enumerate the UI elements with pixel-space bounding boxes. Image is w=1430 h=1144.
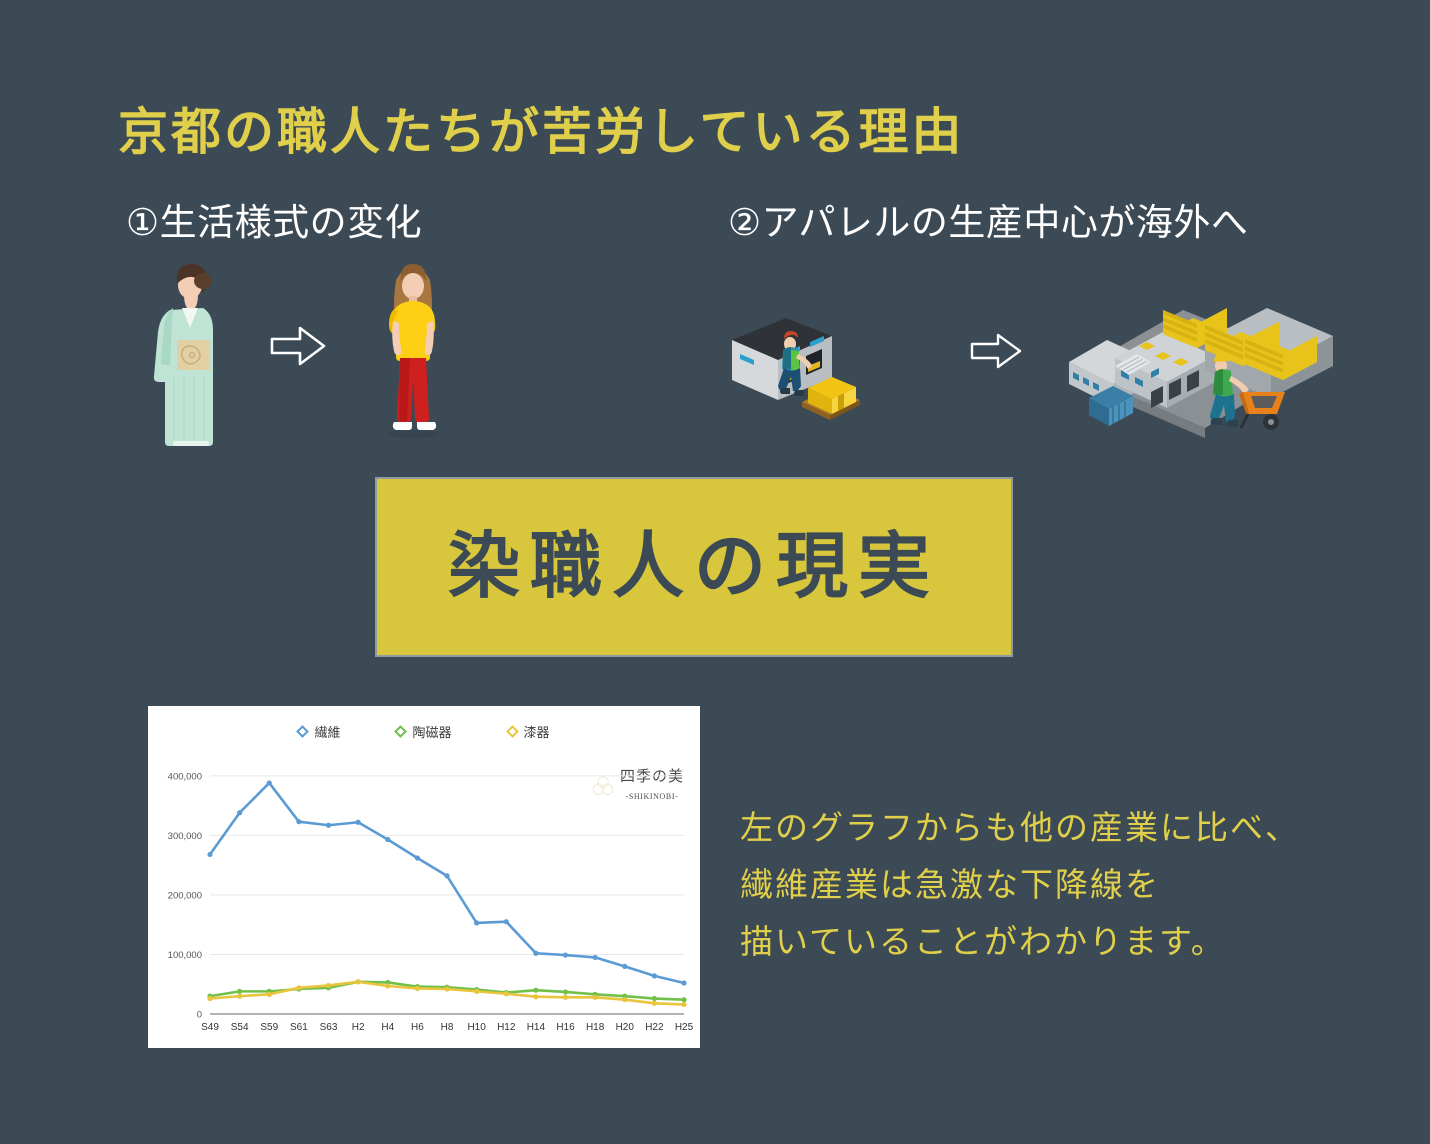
svg-text:0: 0 bbox=[197, 1010, 202, 1021]
legend-label-ceramics: 陶磁器 bbox=[412, 722, 451, 741]
legend-label-lacquerware: 漆器 bbox=[524, 722, 550, 741]
svg-text:H10: H10 bbox=[467, 1022, 486, 1033]
svg-text:H4: H4 bbox=[381, 1022, 394, 1033]
explanatory-paragraph: 左のグラフからも他の産業に比べ、 繊維産業は急激な下降線を 描いていることがわか… bbox=[740, 800, 1300, 970]
banner-label: 染職人の現実 bbox=[448, 531, 940, 603]
svg-text:S63: S63 bbox=[320, 1022, 338, 1033]
svg-text:S61: S61 bbox=[290, 1022, 308, 1033]
legend-item-ceramics[interactable]: 陶磁器 bbox=[396, 722, 451, 741]
transition-arrow-icon-2 bbox=[970, 332, 1022, 370]
svg-text:400,000: 400,000 bbox=[168, 771, 202, 782]
kimono-woman-illustration bbox=[140, 258, 240, 448]
paragraph-line-3: 描いていることがわかります。 bbox=[740, 914, 1300, 971]
small-factory-illustration bbox=[728, 292, 908, 442]
chart-legend: 繊維 陶磁器 漆器 bbox=[148, 722, 700, 741]
svg-text:S54: S54 bbox=[231, 1022, 249, 1033]
legend-marker-lacquerware-icon bbox=[506, 725, 519, 738]
large-factory-illustration bbox=[1055, 288, 1335, 458]
legend-marker-ceramics-icon bbox=[395, 725, 408, 738]
legend-item-lacquerware[interactable]: 漆器 bbox=[508, 722, 550, 741]
svg-text:H16: H16 bbox=[556, 1022, 575, 1033]
highlight-banner: 染職人の現実 bbox=[375, 477, 1013, 657]
legend-marker-textile-icon bbox=[297, 725, 310, 738]
western-woman-illustration bbox=[368, 258, 458, 448]
legend-label-textile: 繊維 bbox=[314, 722, 340, 741]
svg-text:H22: H22 bbox=[645, 1022, 664, 1033]
paragraph-line-2: 繊維産業は急激な下降線を bbox=[740, 857, 1300, 914]
svg-text:H18: H18 bbox=[586, 1022, 605, 1033]
svg-text:H12: H12 bbox=[497, 1022, 516, 1033]
svg-text:300,000: 300,000 bbox=[168, 831, 202, 842]
line-chart-svg: 0100,000200,000300,000400,000S49S54S59S6… bbox=[148, 744, 700, 1048]
svg-text:H6: H6 bbox=[411, 1022, 424, 1033]
svg-text:H8: H8 bbox=[441, 1022, 454, 1033]
legend-item-textile[interactable]: 繊維 bbox=[298, 722, 340, 741]
paragraph-line-1: 左のグラフからも他の産業に比べ、 bbox=[740, 800, 1300, 857]
slide-root: 京都の職人たちが苦労している理由 ①生活様式の変化 ②アパレルの生産中心が海外へ bbox=[0, 0, 1430, 1144]
svg-text:H20: H20 bbox=[616, 1022, 635, 1033]
subheading-offshore-production: ②アパレルの生産中心が海外へ bbox=[728, 192, 1248, 246]
svg-text:200,000: 200,000 bbox=[168, 890, 202, 901]
chart-plot: 0100,000200,000300,000400,000S49S54S59S6… bbox=[148, 744, 700, 1048]
svg-text:H25: H25 bbox=[675, 1022, 694, 1033]
page-title: 京都の職人たちが苦労している理由 bbox=[118, 92, 965, 164]
transition-arrow-icon-1 bbox=[270, 325, 326, 367]
svg-text:S59: S59 bbox=[260, 1022, 278, 1033]
svg-text:H2: H2 bbox=[352, 1022, 365, 1033]
subheading-lifestyle-change: ①生活様式の変化 bbox=[126, 192, 422, 246]
chart-panel: 繊維 陶磁器 漆器 四季の美 -SHIKINOBI- 0100, bbox=[148, 706, 700, 1048]
svg-text:S49: S49 bbox=[201, 1022, 219, 1033]
svg-text:100,000: 100,000 bbox=[168, 950, 202, 961]
svg-text:H14: H14 bbox=[527, 1022, 546, 1033]
